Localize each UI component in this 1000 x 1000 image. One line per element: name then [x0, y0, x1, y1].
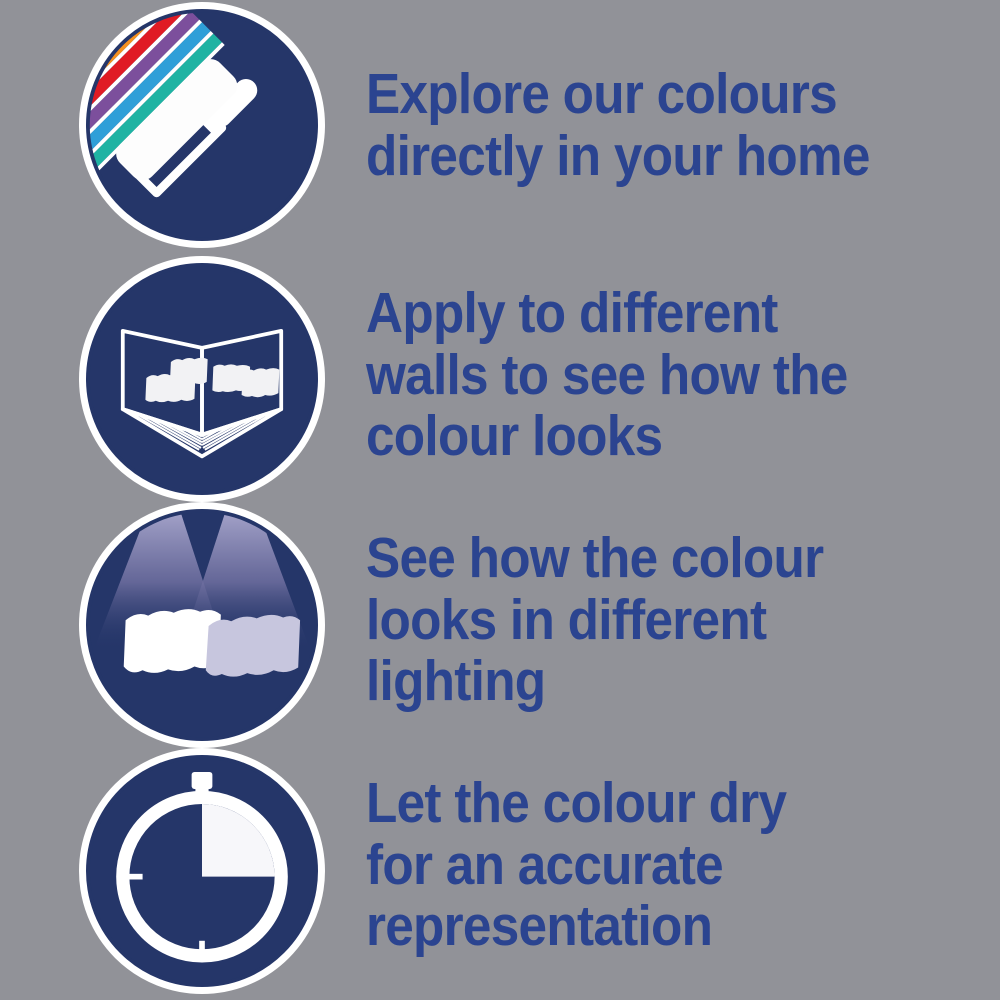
feature-text: Explore our colours directly in your hom…: [366, 64, 906, 187]
feature-text-line: Apply to different: [366, 283, 906, 345]
room-walls-swatches-icon: [79, 256, 325, 502]
paint-roller-rainbow-icon: [79, 2, 325, 248]
feature-text: Let the colour dry for an accurate repre…: [366, 773, 906, 958]
feature-text: Apply to different walls to see how the …: [366, 283, 906, 468]
spotlight-swatches-icon: [79, 502, 325, 748]
feature-text-line: Explore our colours: [366, 64, 906, 126]
feature-text-line: See how the colour: [366, 528, 906, 590]
feature-text-line: lighting: [366, 651, 906, 713]
feature-text-line: representation: [366, 896, 906, 958]
infographic-root: Explore our colours directly in your hom…: [0, 0, 1000, 1000]
feature-text-line: for an accurate: [366, 835, 906, 897]
feature-text-line: Let the colour dry: [366, 773, 906, 835]
feature-text-line: colour looks: [366, 406, 906, 468]
feature-text-line: directly in your home: [366, 126, 906, 188]
feature-text: See how the colour looks in different li…: [366, 528, 906, 713]
stopwatch-icon: [79, 748, 325, 994]
feature-text-line: walls to see how the: [366, 345, 906, 407]
feature-text-line: looks in different: [366, 590, 906, 652]
